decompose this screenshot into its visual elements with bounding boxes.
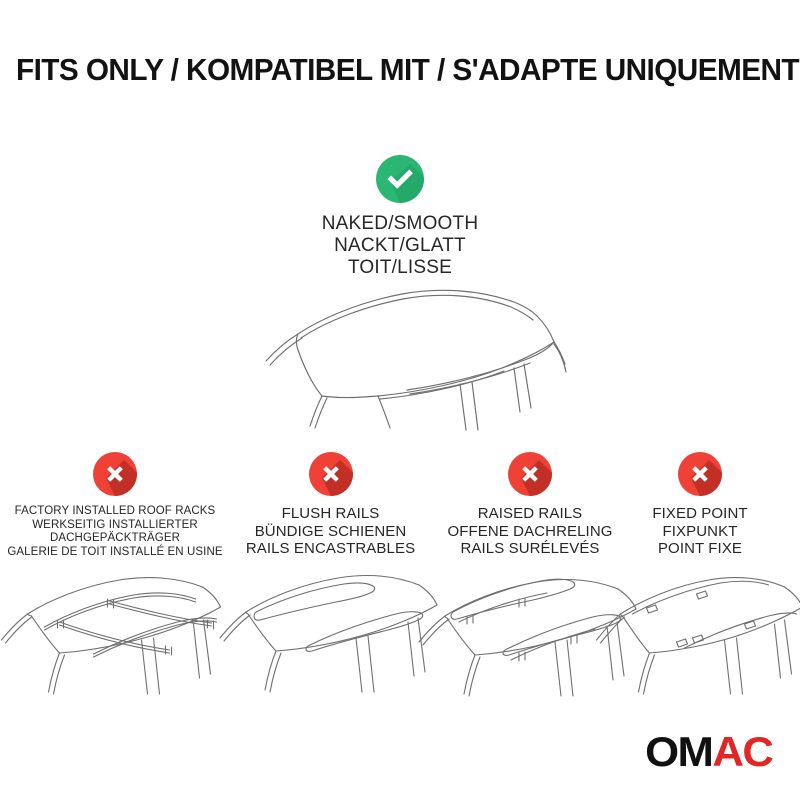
approved-roof-type: NAKED/SMOOTH NACKT/GLATT TOIT/LISSE	[0, 155, 800, 279]
excluded-labels: FLUSH RAILS BÜNDIGE SCHIENEN RAILS ENCAS…	[228, 505, 433, 558]
logo-text-dark: OM	[645, 728, 712, 775]
excluded-label-de-1: WERKSEITIG INSTALLIERTER	[5, 519, 225, 533]
excluded-roof-types-row: FACTORY INSTALLED ROOF RACKS WERKSEITIG …	[0, 452, 800, 722]
excluded-labels: RAISED RAILS OFFENE DACHRELING RAILS SUR…	[432, 505, 628, 558]
car-roof-fixed-point-illustration	[593, 554, 800, 704]
excluded-label-en: FIXED POINT	[620, 505, 780, 523]
excluded-label-en: FLUSH RAILS	[228, 505, 433, 523]
excluded-label-de: FIXPUNKT	[620, 523, 780, 541]
excluded-item-raised-rails: RAISED RAILS OFFENE DACHRELING RAILS SUR…	[432, 452, 628, 558]
excluded-label-de-2: DACHGEPÄCKTRÄGER	[5, 532, 225, 546]
excluded-item-factory-installed-roof-racks: FACTORY INSTALLED ROOF RACKS WERKSEITIG …	[5, 452, 225, 559]
excluded-label-en: FACTORY INSTALLED ROOF RACKS	[5, 505, 225, 519]
excluded-item-flush-rails: FLUSH RAILS BÜNDIGE SCHIENEN RAILS ENCAS…	[228, 452, 433, 558]
excluded-label-de: OFFENE DACHRELING	[432, 523, 628, 541]
car-roof-factory-rack-illustration	[0, 554, 233, 704]
logo-text-accent: AC	[712, 728, 772, 775]
car-roof-naked-smooth-illustration	[252, 272, 572, 432]
page-title: FITS ONLY / KOMPATIBEL MIT / S'ADAPTE UN…	[16, 52, 784, 88]
x-circle-icon	[508, 452, 552, 496]
approved-label-de: NACKT/GLATT	[0, 235, 800, 257]
x-circle-icon	[93, 452, 137, 496]
omac-logo: OMAC	[645, 728, 772, 776]
approved-label-en: NAKED/SMOOTH	[0, 213, 800, 235]
car-roof-flush-rails-illustration	[216, 554, 446, 704]
x-circle-icon	[678, 452, 722, 496]
excluded-labels: FIXED POINT FIXPUNKT POINT FIXE	[620, 505, 780, 558]
approved-labels: NAKED/SMOOTH NACKT/GLATT TOIT/LISSE	[0, 213, 800, 279]
excluded-label-de: BÜNDIGE SCHIENEN	[228, 523, 433, 541]
x-circle-icon	[309, 452, 353, 496]
check-circle-icon	[376, 155, 424, 203]
excluded-item-fixed-point: FIXED POINT FIXPUNKT POINT FIXE	[620, 452, 780, 558]
excluded-labels: FACTORY INSTALLED ROOF RACKS WERKSEITIG …	[5, 505, 225, 559]
excluded-label-en: RAISED RAILS	[432, 505, 628, 523]
